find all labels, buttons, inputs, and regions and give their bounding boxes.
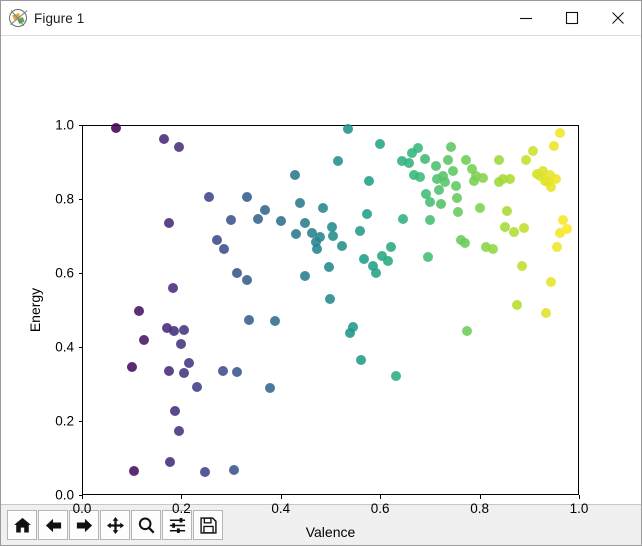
x-tick-mark (380, 495, 381, 499)
scatter-point (343, 124, 353, 134)
scatter-point (229, 465, 239, 475)
scatter-point (348, 322, 358, 332)
scatter-point (552, 242, 562, 252)
minimize-button[interactable] (503, 1, 549, 35)
scatter-point (232, 367, 242, 377)
y-tick-label: 0.0 (55, 488, 74, 503)
scatter-point (300, 271, 310, 281)
maximize-button[interactable] (549, 1, 595, 35)
scatter-point (478, 173, 488, 183)
window-controls (503, 1, 641, 35)
magnifier-icon (137, 516, 156, 535)
scatter-point (415, 172, 425, 182)
scatter-point (521, 155, 531, 165)
scatter-point (446, 142, 456, 152)
sliders-icon (168, 516, 187, 535)
scatter-point (219, 244, 229, 254)
x-tick-label: 0.8 (470, 501, 489, 516)
scatter-point (176, 339, 186, 349)
scatter-point (315, 232, 325, 242)
scatter-point (159, 134, 169, 144)
scatter-point (391, 371, 401, 381)
y-tick-mark (79, 347, 83, 348)
scatter-point (179, 325, 189, 335)
y-tick-mark (79, 273, 83, 274)
x-axis-label: Valence (306, 524, 356, 540)
scatter-point (232, 268, 242, 278)
scatter-point (488, 244, 498, 254)
scatter-point (386, 242, 396, 252)
x-tick-label: 0.0 (73, 501, 92, 516)
scatter-point (461, 155, 471, 165)
home-button[interactable] (7, 510, 37, 540)
window-title: Figure 1 (34, 11, 84, 26)
scatter-point (127, 362, 137, 372)
x-tick-mark (281, 495, 282, 499)
scatter-point (451, 181, 461, 191)
scatter-point (383, 256, 393, 266)
scatter-point (425, 197, 435, 207)
y-tick-label: 1.0 (55, 118, 74, 133)
scatter-point (129, 466, 139, 476)
arrow-left-icon (44, 516, 63, 535)
scatter-point (551, 174, 561, 184)
scatter-point (318, 203, 328, 213)
y-tick-mark (79, 495, 83, 496)
scatter-point (168, 283, 178, 293)
scatter-point (475, 203, 485, 213)
move-arrows-icon (106, 516, 125, 535)
scatter-point (440, 177, 450, 187)
x-tick-label: 0.4 (271, 501, 290, 516)
scatter-point (300, 218, 310, 228)
scatter-point (165, 457, 175, 467)
x-tick-label: 1.0 (570, 501, 589, 516)
x-tick-mark (181, 495, 182, 499)
pan-button[interactable] (100, 510, 130, 540)
title-bar: Figure 1 (1, 1, 641, 36)
scatter-point (420, 154, 430, 164)
scatter-point (404, 158, 414, 168)
y-tick-label: 0.2 (55, 414, 74, 429)
scatter-point (184, 358, 194, 368)
save-button[interactable] (193, 510, 223, 540)
scatter-point (260, 205, 270, 215)
y-axis-label: Energy (27, 288, 43, 332)
y-tick-mark (79, 125, 83, 126)
y-tick-mark (79, 421, 83, 422)
scatter-point (528, 146, 538, 156)
minimize-icon (519, 11, 533, 25)
figure-canvas[interactable]: 0.00.20.40.60.81.00.00.20.40.60.81.0 Val… (1, 36, 641, 504)
scatter-point (371, 268, 381, 278)
scatter-plot: 0.00.20.40.60.81.00.00.20.40.60.81.0 Val… (1, 36, 641, 506)
scatter-point (333, 156, 343, 166)
x-tick-mark (579, 495, 580, 499)
scatter-point (200, 467, 210, 477)
scatter-point (204, 192, 214, 202)
scatter-point (295, 198, 305, 208)
y-tick-label: 0.4 (55, 340, 74, 355)
scatter-point (398, 214, 408, 224)
maximize-icon (565, 11, 579, 25)
close-icon (611, 11, 625, 25)
y-tick-mark (79, 199, 83, 200)
scatter-point (436, 199, 446, 209)
scatter-point (325, 294, 335, 304)
x-tick-label: 0.6 (371, 501, 390, 516)
scatter-point (462, 326, 472, 336)
home-icon (13, 516, 32, 535)
x-tick-mark (82, 495, 83, 499)
scatter-point (111, 123, 121, 133)
scatter-point (431, 161, 441, 171)
x-tick-mark (480, 495, 481, 499)
scatter-point (448, 166, 458, 176)
floppy-disk-icon (199, 516, 218, 535)
scatter-point (517, 261, 527, 271)
scatter-point (541, 308, 551, 318)
y-tick-label: 0.6 (55, 266, 74, 281)
close-button[interactable] (595, 1, 641, 35)
matplotlib-icon (9, 9, 27, 27)
y-tick-label: 0.8 (55, 192, 74, 207)
zoom-button[interactable] (131, 510, 161, 540)
arrow-right-icon (75, 516, 94, 535)
scatter-point (375, 139, 385, 149)
scatter-point (519, 223, 529, 233)
scatter-point (164, 218, 174, 228)
figure-window: Figure 1 0.00. (0, 0, 642, 546)
scatter-point (509, 227, 519, 237)
scatter-point (562, 224, 572, 234)
scatter-point (453, 207, 463, 217)
scatter-point (460, 238, 470, 248)
back-button[interactable] (38, 510, 68, 540)
x-tick-label: 0.2 (172, 501, 191, 516)
scatter-point (179, 368, 189, 378)
